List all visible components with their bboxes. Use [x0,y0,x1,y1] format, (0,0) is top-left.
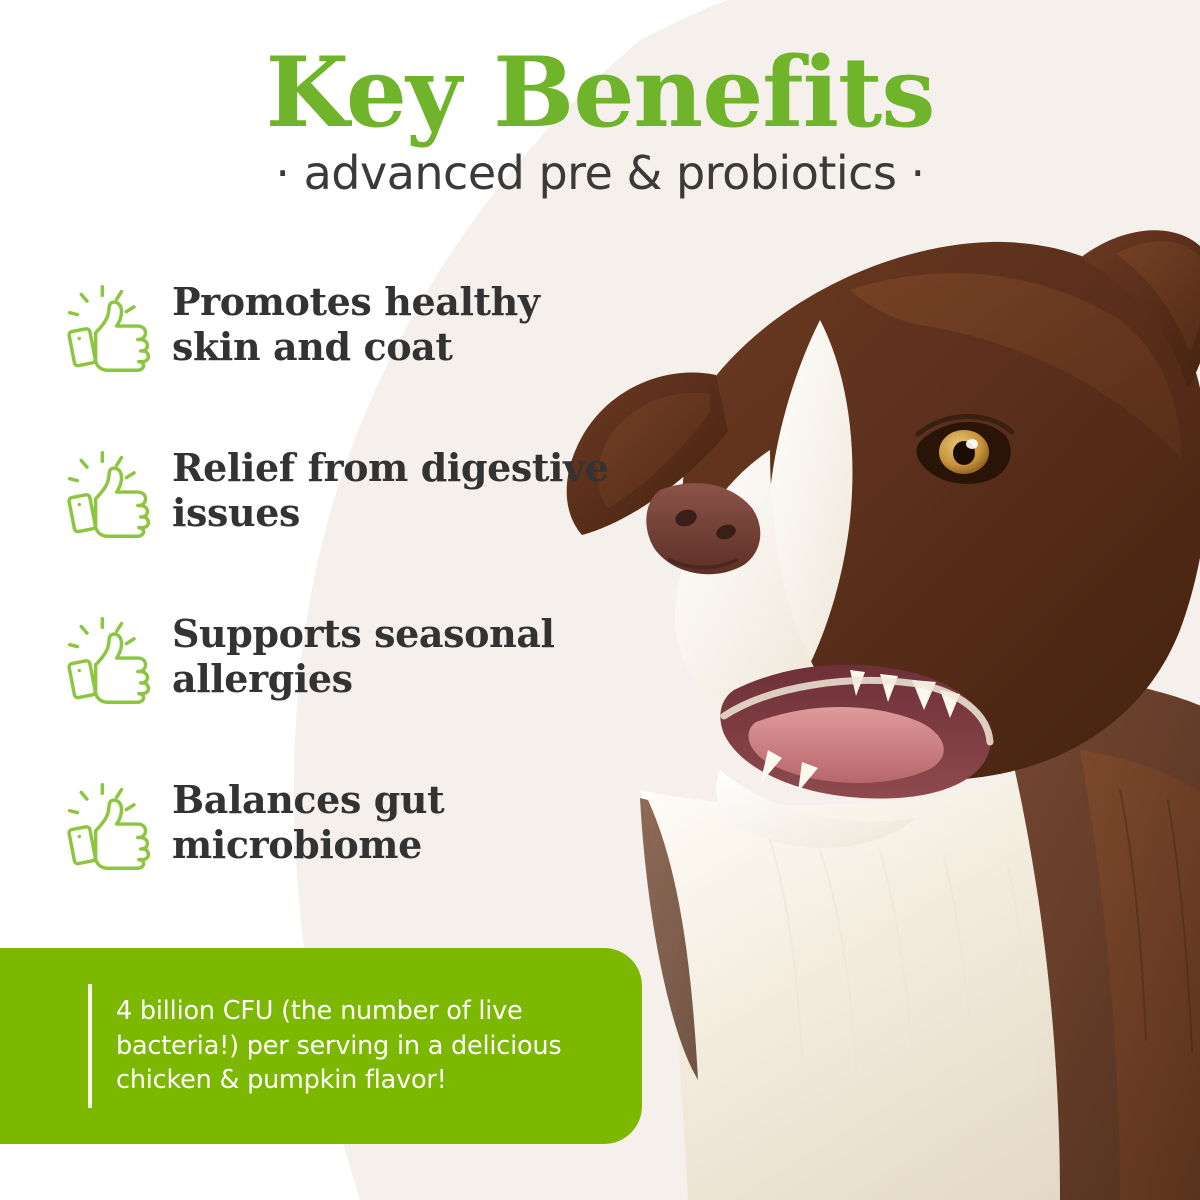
callout-banner: 4 billion CFU (the number of live bacter… [0,948,642,1144]
benefit-item: Supports seasonal allergies [62,604,642,770]
header-block: Key Benefits · advanced pre & probiotics… [0,44,1200,199]
thumbs-up-icon [62,280,158,376]
page-title: Key Benefits [0,44,1200,142]
benefit-label: Supports seasonal allergies [172,604,632,702]
thumbs-up-icon [62,778,158,874]
infographic-content: Key Benefits · advanced pre & probiotics… [0,0,1200,1200]
thumbs-up-icon [62,446,158,542]
benefit-item: Balances gut microbiome [62,770,642,936]
benefit-item: Relief from digestive issues [62,438,642,604]
benefit-label: Promotes healthy skin and coat [172,272,632,370]
benefit-label: Balances gut microbiome [172,770,632,868]
thumbs-up-icon [62,612,158,708]
benefit-label: Relief from digestive issues [172,438,632,536]
callout-text: 4 billion CFU (the number of live bacter… [116,994,576,1098]
page-subtitle: · advanced pre & probiotics · [0,148,1200,199]
benefit-item: Promotes healthy skin and coat [62,272,642,438]
benefits-list: Promotes healthy skin and coat [62,272,642,936]
callout-accent-bar [88,984,92,1108]
